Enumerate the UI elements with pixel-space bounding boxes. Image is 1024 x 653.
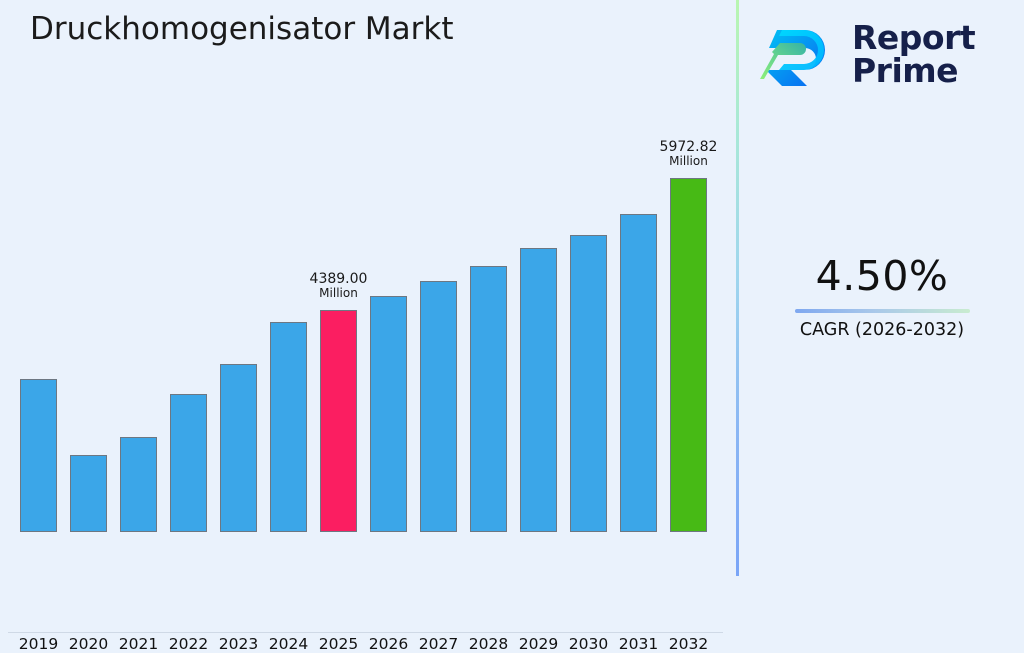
bar-2021[interactable] (120, 437, 157, 532)
bar-2032[interactable] (670, 178, 707, 532)
bar-2019[interactable] (20, 379, 57, 532)
brand-panel: Report Prime 4.50% CAGR (2026-2032) (740, 0, 1024, 576)
brand-name: Report Prime (852, 21, 975, 87)
bar-2029[interactable] (520, 248, 557, 532)
bar-2026[interactable] (370, 296, 407, 532)
bar-rect-2019[interactable] (20, 379, 57, 532)
cagr-divider-rule (795, 309, 970, 313)
x-axis-line (8, 632, 723, 633)
value-label-2025: 4389.00Million (289, 272, 389, 300)
bar-rect-2026[interactable] (370, 296, 407, 532)
brand-name-line2: Prime (852, 54, 975, 87)
bar-rect-2023[interactable] (220, 364, 257, 532)
bar-2028[interactable] (470, 266, 507, 532)
value-label-unit-2025: Million (289, 287, 389, 300)
page-title: Druckhomogenisator Markt (30, 11, 454, 47)
x-tick-2032: 2032 (659, 635, 719, 653)
brand-logo[interactable]: Report Prime (760, 14, 1010, 94)
bar-rect-2027[interactable] (420, 281, 457, 532)
bar-2020[interactable] (70, 455, 107, 532)
bar-rect-2020[interactable] (70, 455, 107, 532)
bar-rect-2029[interactable] (520, 248, 557, 532)
bar-2022[interactable] (170, 394, 207, 532)
value-label-number-2025: 4389.00 (289, 272, 389, 287)
bar-2023[interactable] (220, 364, 257, 532)
bar-rect-2031[interactable] (620, 214, 657, 532)
value-label-number-2032: 5972.82 (639, 140, 739, 155)
value-label-unit-2032: Million (639, 155, 739, 168)
bar-2027[interactable] (420, 281, 457, 532)
bar-2031[interactable] (620, 214, 657, 532)
chart-panel: Druckhomogenisator Markt 4389.00Million5… (0, 0, 737, 576)
bar-rect-2024[interactable] (270, 322, 307, 532)
bar-rect-2021[interactable] (120, 437, 157, 532)
value-label-2032: 5972.82Million (639, 140, 739, 168)
bar-rect-2030[interactable] (570, 235, 607, 532)
bar-2025[interactable] (320, 310, 357, 532)
chart-screenshot: Druckhomogenisator Markt 4389.00Million5… (0, 0, 1024, 576)
plot-area: 4389.00Million5972.82Million 20192020202… (0, 100, 737, 532)
panel-divider (736, 0, 739, 576)
cagr-block: 4.50% CAGR (2026-2032) (740, 252, 1024, 340)
bar-rect-2032[interactable] (670, 178, 707, 532)
bar-2030[interactable] (570, 235, 607, 532)
bar-2024[interactable] (270, 322, 307, 532)
bar-rect-2028[interactable] (470, 266, 507, 532)
report-prime-logo-icon (760, 21, 838, 87)
cagr-caption: CAGR (2026-2032) (740, 320, 1024, 340)
bar-rect-2022[interactable] (170, 394, 207, 532)
bar-rect-2025[interactable] (320, 310, 357, 532)
cagr-value: 4.50% (740, 252, 1024, 300)
